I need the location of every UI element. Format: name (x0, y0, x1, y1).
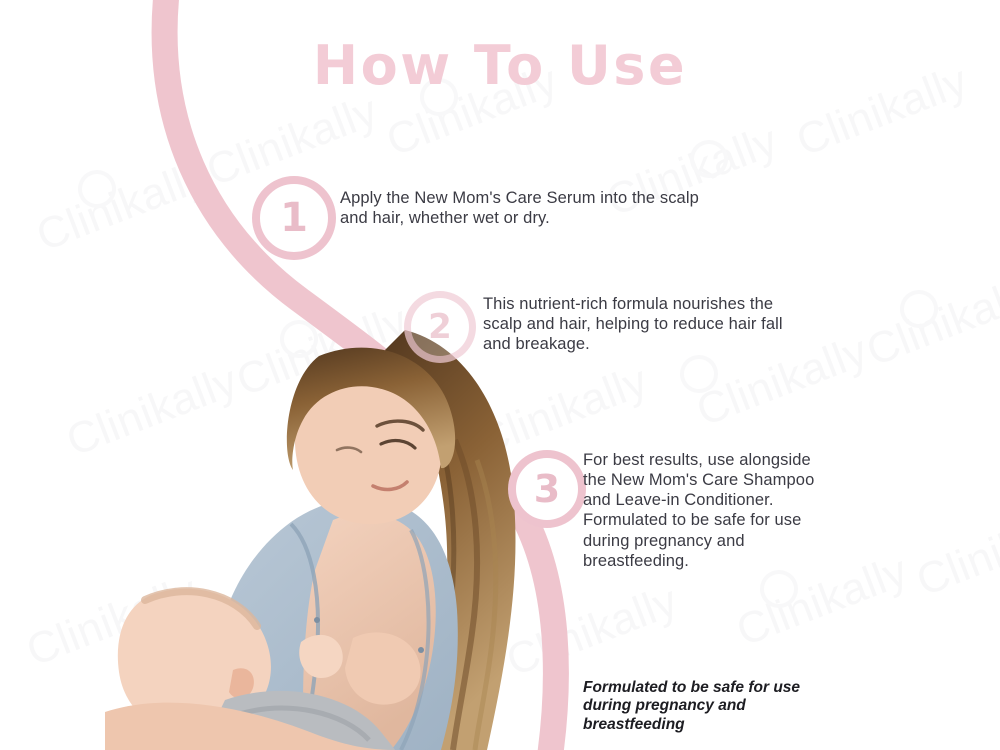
step-number-1: 1 (280, 195, 308, 241)
watermark-logo-icon (674, 349, 723, 398)
infographic-canvas: Clinikally Clinikally Clinikally Clinika… (0, 0, 1000, 750)
watermark-logo-icon (894, 284, 943, 333)
step-number-2: 2 (428, 307, 452, 347)
step-text-3: For best results, use alongside the New … (583, 450, 903, 571)
page-title: How To Use (0, 34, 1000, 97)
safety-note: Formulated to be safe for use during pre… (583, 679, 913, 734)
watermark-text: Clinikally (910, 496, 1000, 607)
watermark-logo-icon (72, 164, 121, 213)
step-text-1: Apply the New Mom's Care Serum into the … (340, 188, 800, 228)
step-badge-3: 3 (508, 450, 586, 528)
watermark-text: Clinikally (30, 151, 215, 262)
watermark-logo-icon (684, 134, 733, 183)
step-badge-2: 2 (404, 291, 476, 363)
step-text-2: This nutrient-rich formula nourishes the… (483, 294, 883, 354)
mother-breastfeeding-photo (105, 320, 565, 750)
step-number-3: 3 (534, 467, 560, 511)
watermark-logo-icon (754, 564, 803, 613)
step-badge-1: 1 (252, 176, 336, 260)
